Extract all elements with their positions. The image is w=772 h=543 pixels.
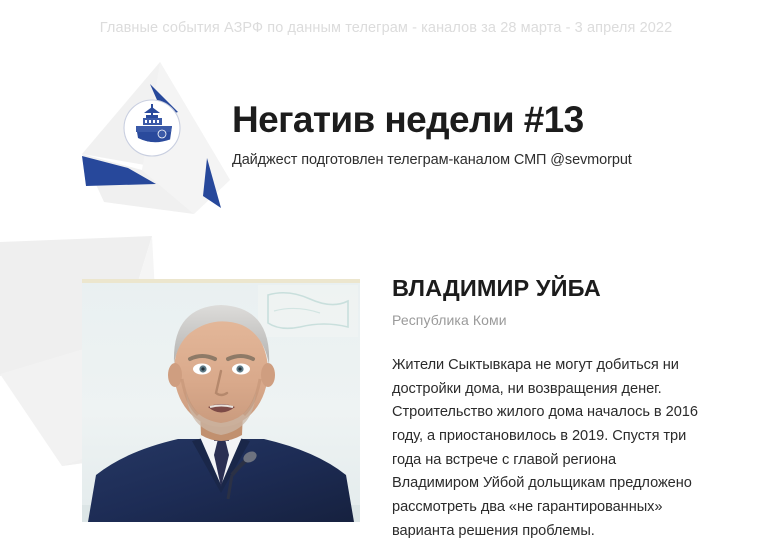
person-body-text: Жители Сыктывкара не могут добиться ни д… <box>392 354 702 543</box>
page-title: Негатив недели #13 <box>232 100 702 141</box>
title-block: Негатив недели #13 Дайджест подготовлен … <box>232 100 702 168</box>
header-bar: Главные события АЗРФ по данным телеграм … <box>0 0 772 56</box>
icebreaker-ship-icon <box>124 100 180 156</box>
person-photo <box>82 279 360 522</box>
person-name: ВЛАДИМИР УЙБА <box>392 275 702 302</box>
digest-card: Главные события АЗРФ по данным телеграм … <box>0 0 772 543</box>
header-caption: Главные события АЗРФ по данным телеграм … <box>0 20 772 36</box>
page-subtitle: Дайджест подготовлен телеграм-каналом СМ… <box>232 152 702 168</box>
person-info: ВЛАДИМИР УЙБА Республика Коми Жители Сык… <box>392 275 702 543</box>
person-region: Республика Коми <box>392 312 702 328</box>
brand-logo <box>82 62 230 214</box>
